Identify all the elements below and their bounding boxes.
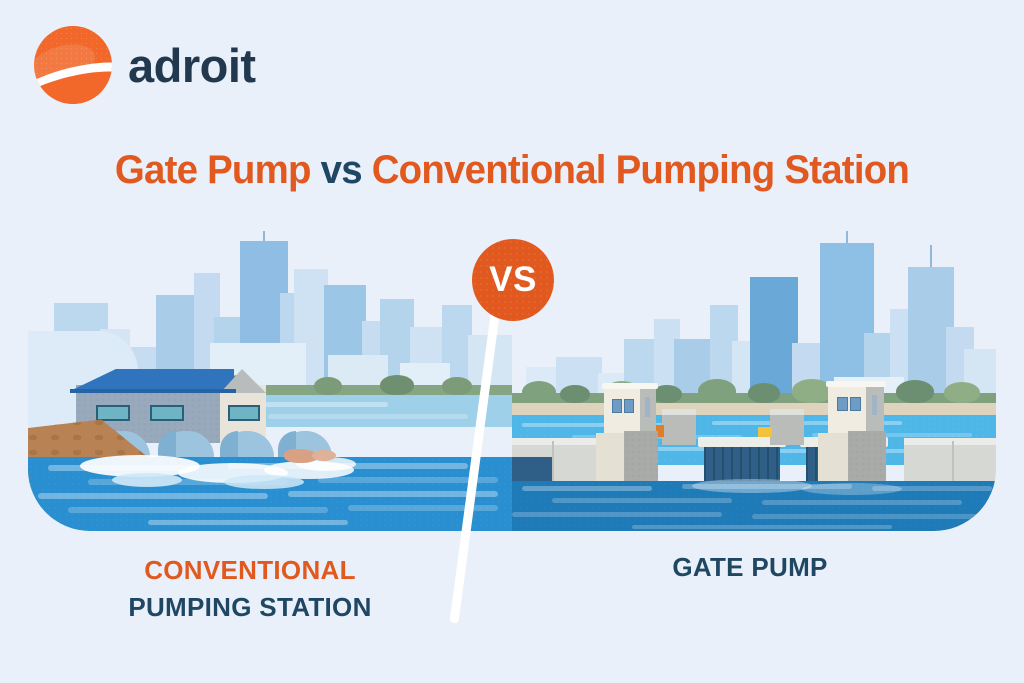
title-vs-word: vs xyxy=(321,148,362,192)
caption-conventional-pumping-station: CONVENTIONAL PUMPING STATION xyxy=(40,552,460,626)
panel-conventional-pumping-station xyxy=(28,231,512,531)
control-tower-left xyxy=(604,385,656,495)
turbulence-foam xyxy=(802,483,902,495)
tower-slot-window xyxy=(645,397,650,417)
tower-window xyxy=(624,399,634,413)
tree xyxy=(748,383,780,403)
roof-edge xyxy=(70,389,236,393)
foam-splash xyxy=(224,475,304,489)
wave-stripe xyxy=(632,525,892,529)
tree xyxy=(314,377,342,395)
wave-stripe xyxy=(348,505,498,511)
tree xyxy=(560,385,590,403)
seawall-right-cap xyxy=(904,438,996,445)
skyline-building xyxy=(750,277,798,401)
foam-splash xyxy=(112,473,182,487)
window xyxy=(228,405,260,421)
tree xyxy=(442,377,472,395)
tree xyxy=(522,381,556,403)
title-part-1: Gate Pump xyxy=(115,148,321,192)
wave-stripe xyxy=(268,414,468,419)
tree xyxy=(944,382,980,403)
window xyxy=(150,405,184,421)
tower-slot-window xyxy=(872,395,877,415)
title-part-2: Conventional Pumping Station xyxy=(362,148,909,192)
adroit-sphere-logo-icon xyxy=(34,26,112,104)
tree xyxy=(896,380,934,403)
rock xyxy=(312,450,336,461)
wave-stripe xyxy=(148,520,348,525)
hoist-housing xyxy=(662,413,696,445)
caption-left-line2: PUMPING STATION xyxy=(40,589,460,626)
vs-badge-label: VS xyxy=(489,260,537,300)
tower-roof xyxy=(602,383,658,389)
turbulence-foam xyxy=(692,479,812,493)
control-tower-right xyxy=(828,383,884,495)
hoist-housing xyxy=(770,413,804,445)
hoist-housing-top xyxy=(662,409,696,415)
caption-gate-pump: GATE PUMP xyxy=(540,552,960,583)
wave-stripe xyxy=(512,512,722,517)
wave-stripe xyxy=(752,514,982,519)
accent-panel-yellow xyxy=(758,427,772,437)
skyline-antenna xyxy=(846,231,848,243)
panel-gate-pump xyxy=(512,231,996,531)
wave-stripe xyxy=(68,507,328,513)
page-title: Gate Pump vs Conventional Pumping Statio… xyxy=(20,148,1003,193)
tower-window xyxy=(837,397,848,411)
brand-logo[interactable]: adroit xyxy=(34,26,256,104)
skyline-antenna xyxy=(263,231,265,241)
tree xyxy=(380,375,414,395)
pump-house-roof xyxy=(70,369,234,391)
caption-left-line1: CONVENTIONAL xyxy=(40,552,460,589)
tower-upper-light xyxy=(604,387,642,437)
hoist-housing-top xyxy=(770,409,804,415)
wave-stripe xyxy=(552,498,732,503)
tower-roof xyxy=(826,381,886,387)
window xyxy=(96,405,130,421)
tree xyxy=(698,379,736,403)
skyline-antenna xyxy=(930,245,932,267)
tower-window xyxy=(612,399,622,413)
wave-stripe xyxy=(522,486,652,491)
tower-window xyxy=(850,397,861,411)
brand-wordmark: adroit xyxy=(128,42,256,89)
wave-stripe xyxy=(762,500,962,505)
tower-upper-light xyxy=(828,385,868,437)
vs-badge: VS xyxy=(472,239,554,321)
wave-stripe xyxy=(38,493,268,499)
